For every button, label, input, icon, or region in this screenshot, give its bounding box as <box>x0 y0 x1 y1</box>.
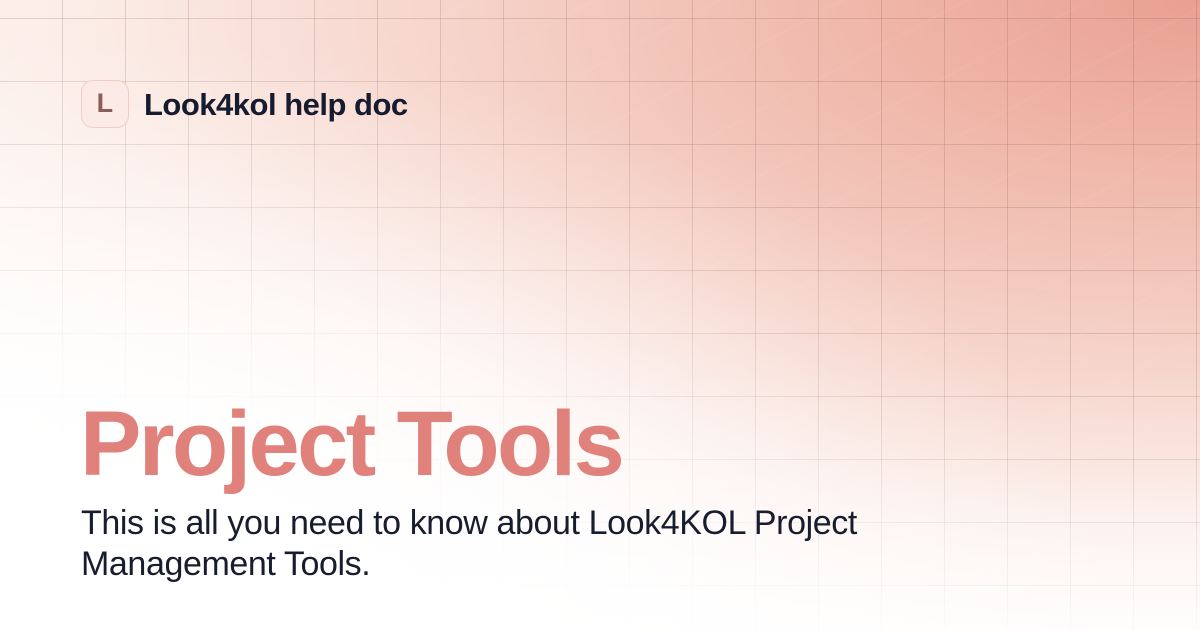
brand-lockup: L Look4kol help doc <box>81 80 408 128</box>
brand-logo-letter: L <box>97 90 114 117</box>
brand-title: Look4kol help doc <box>144 89 408 120</box>
brand-logo-badge: L <box>81 80 129 128</box>
page-description: This is all you need to know about Look4… <box>81 503 881 585</box>
cover-content: L Look4kol help doc Project Tools This i… <box>0 0 1200 630</box>
page-title: Project Tools <box>80 398 622 490</box>
og-cover-canvas: L Look4kol help doc Project Tools This i… <box>0 0 1200 630</box>
